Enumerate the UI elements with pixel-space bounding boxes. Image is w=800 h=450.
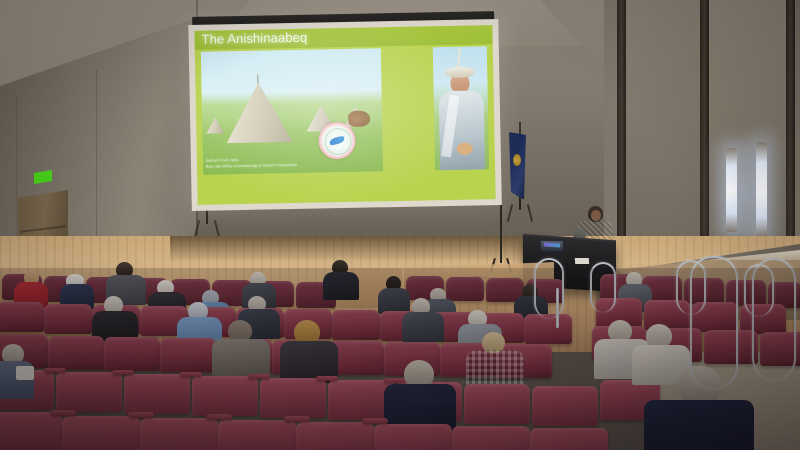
seat-armrest — [362, 418, 388, 424]
flag-emblem — [513, 154, 521, 166]
seat-armrest — [50, 410, 76, 416]
seat[interactable] — [104, 337, 160, 371]
seat-armrest — [316, 376, 338, 381]
seat[interactable] — [332, 310, 380, 340]
audience-seating — [0, 268, 800, 450]
seat[interactable] — [374, 424, 452, 450]
aisle-handrail — [590, 262, 616, 312]
slide-title: The Anishinaabeq — [201, 30, 307, 47]
attendee-torso — [323, 272, 359, 300]
seat[interactable] — [48, 336, 104, 370]
seat[interactable] — [218, 420, 296, 450]
seat[interactable] — [0, 302, 44, 332]
seat-armrest — [112, 370, 134, 375]
seat[interactable] — [160, 338, 216, 372]
screen-frame: The Anishinaabeq A Thousand Years of Gre… — [188, 19, 502, 211]
auditorium-screenshot: The Anishinaabeq A Thousand Years of Gre… — [0, 0, 800, 450]
seat-armrest — [384, 378, 406, 383]
seat-armrest — [206, 414, 232, 420]
seat[interactable] — [452, 426, 530, 450]
attendee-program-paper — [16, 366, 34, 380]
regalia-portrait-photo — [433, 46, 489, 170]
light-glow — [712, 132, 778, 252]
wall-seam — [96, 70, 97, 260]
handrail-post — [556, 288, 559, 328]
wall-light-strip — [756, 142, 767, 238]
aisle-handrail — [752, 258, 796, 380]
seat[interactable] — [192, 376, 258, 416]
attendee-torso — [402, 312, 444, 342]
seat-armrest — [180, 372, 202, 377]
seat[interactable] — [0, 412, 62, 450]
flag-stand — [507, 204, 533, 222]
seat[interactable] — [260, 378, 326, 418]
projection-screen: The Anishinaabeq A Thousand Years of Gre… — [188, 11, 502, 213]
flag-cloth — [509, 132, 526, 200]
papers-on-table — [575, 258, 589, 264]
seat[interactable] — [446, 277, 484, 301]
seat[interactable] — [532, 386, 598, 426]
seat[interactable] — [464, 384, 530, 424]
wall-light-strip — [726, 148, 737, 232]
seat-armrest — [44, 368, 66, 373]
seat[interactable] — [530, 428, 608, 450]
seat-armrest — [128, 412, 154, 418]
tipi-large — [225, 82, 292, 143]
presentation-slide: The Anishinaabeq A Thousand Years of Gre… — [194, 25, 495, 205]
seat-armrest — [284, 416, 310, 422]
seat[interactable] — [62, 416, 140, 450]
seat[interactable] — [140, 418, 218, 450]
seat-armrest — [248, 374, 270, 379]
seat[interactable] — [296, 422, 374, 450]
microphone-stand — [500, 205, 502, 263]
aisle-handrail — [690, 256, 738, 388]
seat[interactable] — [44, 304, 92, 334]
horse-figure — [348, 111, 370, 127]
seat[interactable] — [124, 374, 190, 414]
seat[interactable] — [524, 314, 572, 344]
attendee-torso — [644, 400, 754, 450]
aisle-handrail — [534, 258, 564, 318]
seat[interactable] — [56, 372, 122, 412]
portrait-hat — [444, 66, 475, 78]
